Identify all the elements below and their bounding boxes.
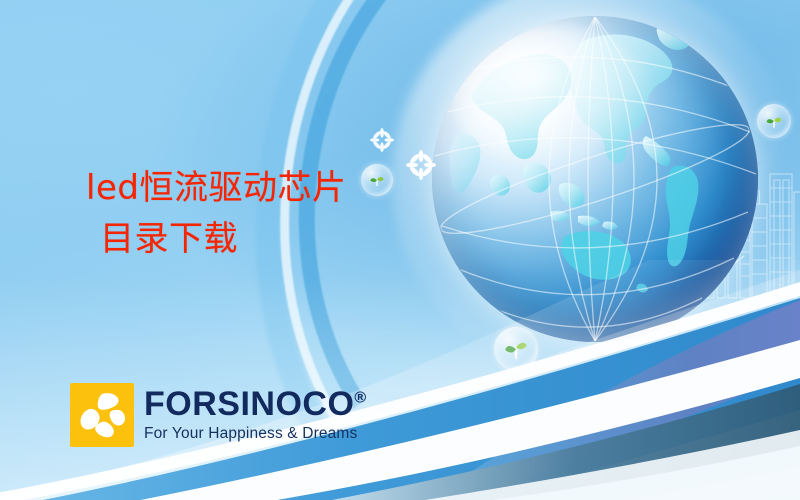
forsinoco-pinwheel-icon — [70, 383, 134, 447]
brand-tagline: For Your Happiness & Dreams — [144, 425, 366, 443]
company-logo: FORSINOCO® For Your Happiness & Dreams — [70, 383, 366, 447]
brand-name: FORSINOCO® — [144, 387, 366, 421]
bubble-with-sprout-3 — [757, 104, 791, 138]
registered-mark: ® — [354, 390, 366, 407]
banner-image: led恒流驱动芯片 目录下载 FORSINOCO® For Your Happi… — [0, 0, 800, 500]
brand-text: FORSINOCO — [144, 385, 354, 423]
logo-wordmark: FORSINOCO® For Your Happiness & Dreams — [144, 387, 366, 443]
bubble-with-sprout-2 — [494, 327, 538, 371]
globe-grid-icon — [432, 16, 758, 342]
headline: led恒流驱动芯片 目录下载 — [86, 168, 426, 261]
headline-line-2: 目录下载 — [86, 219, 426, 260]
globe-sphere — [432, 16, 758, 342]
world-globe — [432, 16, 758, 342]
headline-line-1: led恒流驱动芯片 — [86, 168, 426, 209]
sprout-icon — [503, 336, 529, 362]
sprout-icon — [764, 111, 784, 131]
flower-decoration-1 — [370, 128, 394, 152]
